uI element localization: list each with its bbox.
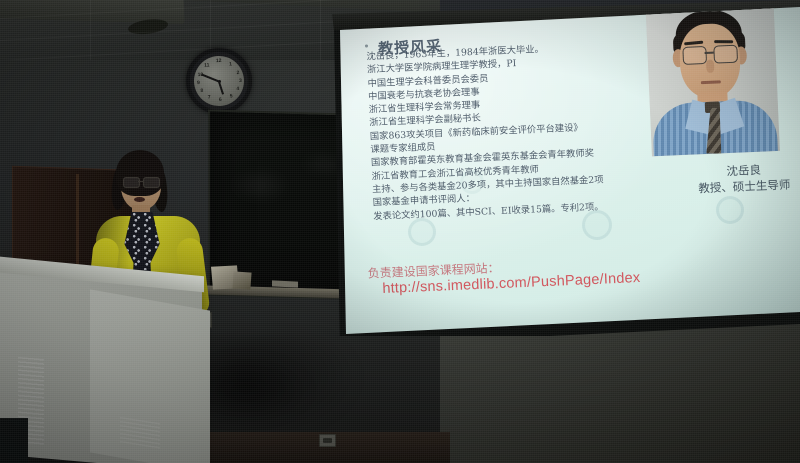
power-outlet-icon xyxy=(319,434,336,447)
lectern-shadow xyxy=(0,418,28,463)
presenter-hair xyxy=(116,150,164,196)
clock-hour-hand xyxy=(218,82,224,95)
eraser[interactable] xyxy=(232,271,251,289)
projection-screen-assembly: 教授风采 沈岳良，1963年生，1984年浙医大毕业。 浙江大学医学院病理生理学… xyxy=(330,0,800,345)
clock-center-pin xyxy=(217,79,220,82)
presenter-eyeglasses-right xyxy=(143,177,160,188)
lecture-photo-scene: 12 1 2 3 4 5 6 7 8 9 10 11 xyxy=(0,0,800,463)
clock-face: 12 1 2 3 4 5 6 7 8 9 10 11 xyxy=(193,55,246,108)
projected-slide: 教授风采 沈岳良，1963年生，1984年浙医大毕业。 浙江大学医学院病理生理学… xyxy=(330,0,800,345)
paper-sheet xyxy=(272,280,298,287)
clock-minute-hand xyxy=(201,74,219,83)
presenter-eyeglasses-left xyxy=(123,177,140,188)
